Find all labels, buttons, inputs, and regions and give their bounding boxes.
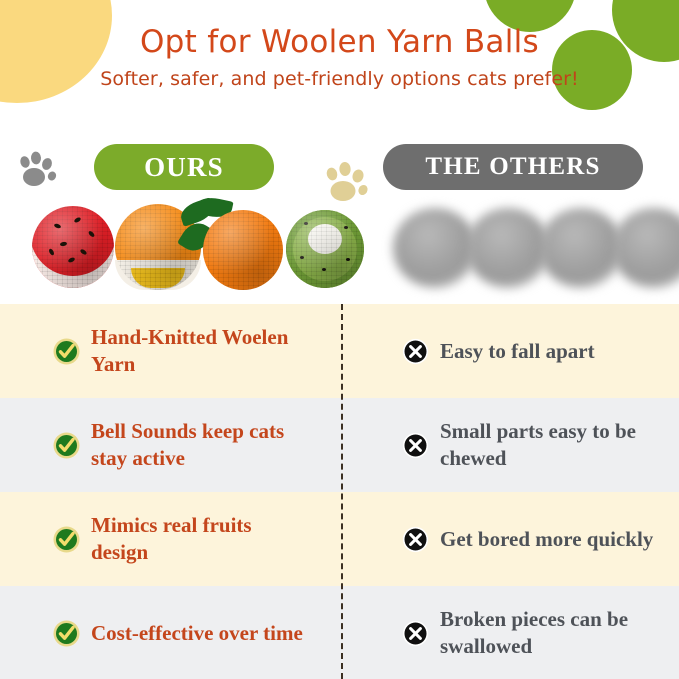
- comparison-text-others: Broken pieces can be swallowed: [440, 606, 655, 660]
- comparison-cell-others: Small parts easy to be chewed: [341, 398, 679, 492]
- comparison-cell-others: Broken pieces can be swallowed: [341, 586, 679, 679]
- comparison-table: Hand-Knitted Woelen Yarn Easy to fall ap…: [0, 304, 679, 679]
- comparison-text-others: Easy to fall apart: [440, 338, 595, 365]
- check-circle-icon: [53, 338, 80, 365]
- column-divider: [341, 304, 343, 679]
- comparison-text-others: Small parts easy to be chewed: [440, 418, 655, 472]
- blurred-gray-ball-1: [393, 208, 477, 288]
- comparison-text-ours: Hand-Knitted Woelen Yarn: [91, 324, 306, 378]
- page-title: Opt for Woolen Yarn Balls: [0, 24, 679, 60]
- comparison-cell-others: Get bored more quickly: [341, 492, 679, 586]
- table-row: Mimics real fruits design Get bored more…: [0, 492, 679, 586]
- table-row: Cost-effective over time Broken pieces c…: [0, 586, 679, 679]
- blurred-gray-ball-4: [612, 208, 679, 288]
- blurred-gray-ball-3: [539, 208, 623, 288]
- header: Opt for Woolen Yarn Balls Softer, safer,…: [0, 0, 679, 122]
- comparison-cell-ours: Mimics real fruits design: [0, 492, 341, 586]
- infographic-page: Opt for Woolen Yarn Balls Softer, safer,…: [0, 0, 679, 679]
- table-row: Bell Sounds keep cats stay active Small …: [0, 398, 679, 492]
- ball-shading: [32, 206, 114, 288]
- comparison-text-others: Get bored more quickly: [440, 526, 653, 553]
- comparison-cell-ours: Cost-effective over time: [0, 586, 341, 679]
- comparison-text-ours: Bell Sounds keep cats stay active: [91, 418, 306, 472]
- comparison-text-ours: Cost-effective over time: [91, 620, 303, 647]
- check-circle-icon: [53, 432, 80, 459]
- x-circle-icon: [402, 432, 429, 459]
- badge-ours-label: OURS: [144, 152, 224, 183]
- orange-with-leaf-yarn-ball: [203, 210, 283, 290]
- badge-ours: OURS: [94, 144, 274, 190]
- kiwi-yarn-ball: [286, 210, 364, 288]
- comparison-cell-ours: Hand-Knitted Woelen Yarn: [0, 304, 341, 398]
- comparison-text-ours: Mimics real fruits design: [91, 512, 306, 566]
- ball-shading: [286, 210, 364, 288]
- ball-shading: [203, 210, 283, 290]
- badge-others: THE OTHERS: [383, 144, 643, 190]
- x-circle-icon: [402, 526, 429, 553]
- paw-print-icon: [14, 150, 60, 197]
- product-strip: [0, 196, 679, 304]
- comparison-cell-ours: Bell Sounds keep cats stay active: [0, 398, 341, 492]
- table-row: Hand-Knitted Woelen Yarn Easy to fall ap…: [0, 304, 679, 398]
- check-circle-icon: [53, 526, 80, 553]
- watermelon-yarn-ball: [32, 206, 114, 288]
- check-circle-icon: [53, 620, 80, 647]
- comparison-cell-others: Easy to fall apart: [341, 304, 679, 398]
- x-circle-icon: [402, 620, 429, 647]
- badge-others-label: THE OTHERS: [425, 153, 600, 181]
- x-circle-icon: [402, 338, 429, 365]
- page-subtitle: Softer, safer, and pet-friendly options …: [0, 68, 679, 90]
- blurred-gray-ball-2: [466, 208, 550, 288]
